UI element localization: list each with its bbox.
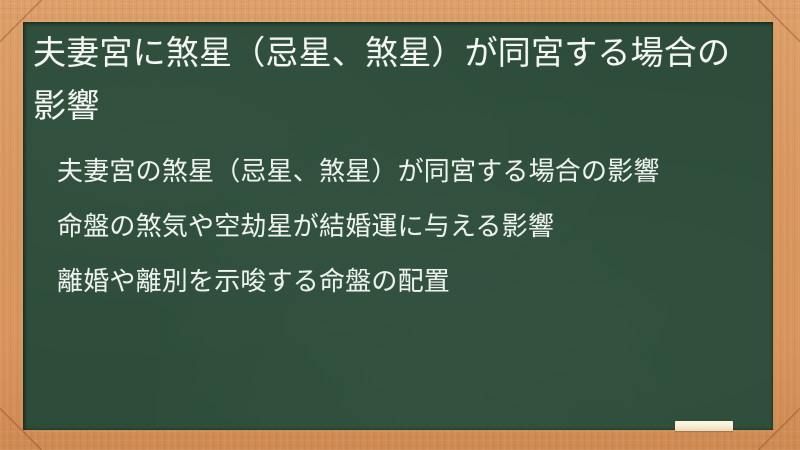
blackboard-wooden-frame: 夫妻宮に煞星（忌星、煞星）が同宮する場合の影響 夫妻宮の煞星（忌星、煞星）が同宮…	[0, 0, 800, 450]
list-item: 夫妻宮の煞星（忌星、煞星）が同宮する場合の影響	[57, 154, 747, 191]
list-item: 命盤の煞気や空劫星が結婚運に与える影響	[57, 209, 747, 246]
topic-list: 夫妻宮の煞星（忌星、煞星）が同宮する場合の影響 命盤の煞気や空劫星が結婚運に与え…	[57, 154, 747, 301]
page-title: 夫妻宮に煞星（忌星、煞星）が同宮する場合の影響	[33, 26, 733, 132]
chalk-stick-icon	[675, 421, 733, 431]
frame-top-rail-grain	[0, 0, 800, 22]
chalkboard-surface: 夫妻宮に煞星（忌星、煞星）が同宮する場合の影響 夫妻宮の煞星（忌星、煞星）が同宮…	[23, 22, 773, 430]
frame-bottom-rail-grain	[0, 430, 800, 450]
list-item: 離婚や離別を示唆する命盤の配置	[57, 264, 747, 301]
